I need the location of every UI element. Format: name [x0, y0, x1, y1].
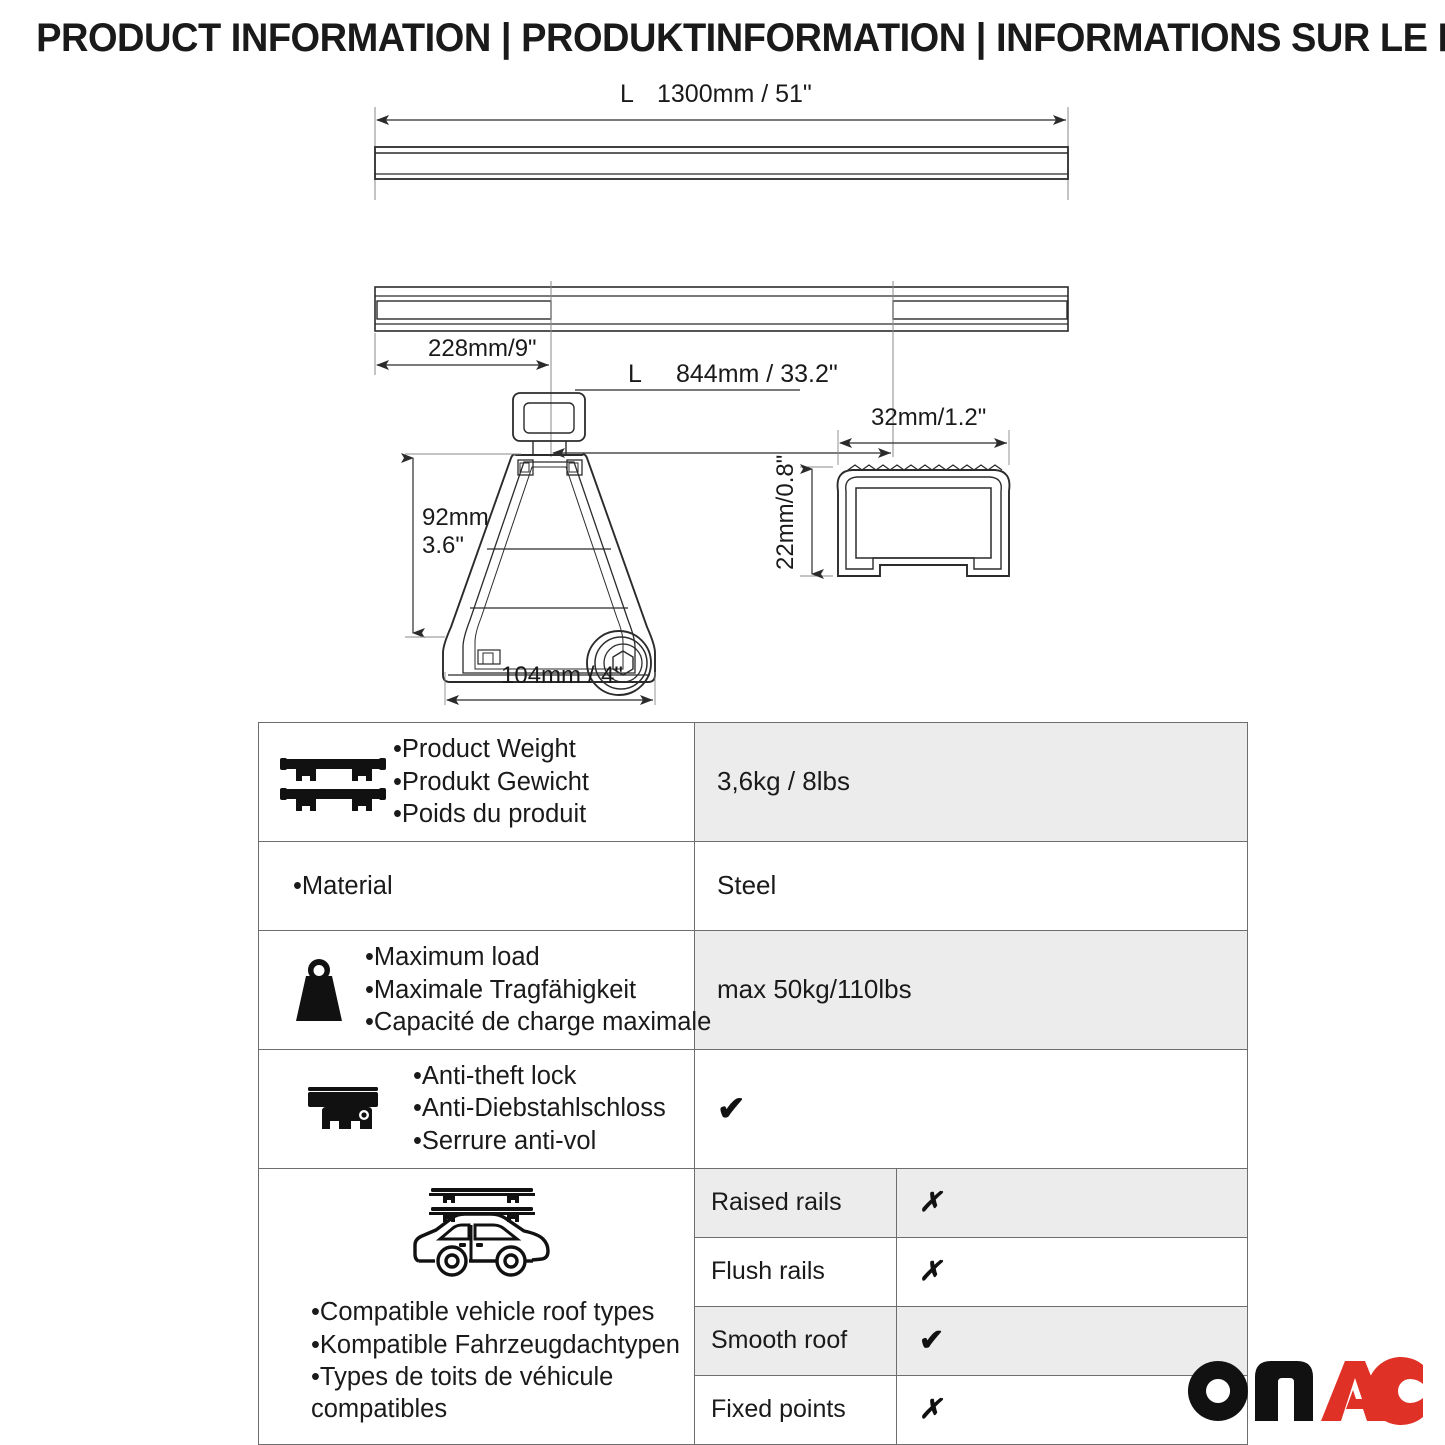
label-line-en: •Compatible vehicle roof types [311, 1296, 680, 1328]
row-label-text: •Compatible vehicle roof types •Kompatib… [273, 1296, 680, 1425]
page-title: PRODUCT INFORMATION | PRODUKTINFORMATION… [36, 16, 1409, 61]
spread-value: 844mm / 33.2" [676, 360, 838, 388]
bar-top-view [375, 107, 1068, 200]
label-line-de: •Maximale Tragfähigkeit [365, 974, 711, 1007]
table-row: •Compatible vehicle roof types •Kompatib… [259, 1168, 1248, 1444]
label-line-fr: •Capacité de charge maximale [365, 1006, 711, 1039]
foot-width-label: 104mm / 4" [501, 662, 623, 689]
table-row: •Anti-theft lock •Anti-Diebstahlschloss … [259, 1049, 1248, 1168]
row-value-weight: 3,6kg / 8lbs [695, 723, 1248, 842]
row-label-lock: •Anti-theft lock •Anti-Diebstahlschloss … [259, 1049, 695, 1168]
value-text: 3,6kg / 8lbs [695, 756, 1247, 807]
foot-offset-label: 228mm/9" [428, 335, 537, 362]
logo-letter-o [1188, 1361, 1248, 1421]
row-label-max-load: •Maximum load •Maximale Tragfähigkeit •C… [259, 930, 695, 1049]
bar-length-label: L [620, 80, 634, 108]
logo-letter-m [1255, 1361, 1313, 1421]
technical-drawing: L 1300mm / 51" 228mm/9" L 844mm / 33.2" … [0, 75, 1445, 705]
roof-type-name: Raised rails [695, 1169, 897, 1238]
row-label-material: •Material [259, 841, 695, 930]
label-line-en: •Maximum load [365, 941, 711, 974]
foot-front-view [443, 393, 655, 695]
roof-types-cell: Raised rails ✗ Flush rails ✗ [695, 1168, 1248, 1444]
roof-type-row: Raised rails ✗ [695, 1169, 1247, 1238]
lock-icon [273, 1085, 413, 1133]
roof-type-row: Smooth roof ✔ [695, 1306, 1247, 1375]
product-information-sheet: PRODUCT INFORMATION | PRODUKTINFORMATION… [0, 0, 1445, 1445]
roof-type-name: Fixed points [695, 1375, 897, 1444]
value-text: Steel [695, 860, 1247, 911]
bar-length-value: 1300mm / 51" [657, 80, 812, 108]
label-line-fr: •Serrure anti-vol [413, 1125, 690, 1158]
weight-icon [273, 955, 365, 1025]
label-line-de: •Kompatible Fahrzeugdachtypen [311, 1329, 680, 1361]
table-row: •Maximum load •Maximale Tragfähigkeit •C… [259, 930, 1248, 1049]
row-label-weight: •Product Weight •Produkt Gewicht •Poids … [259, 723, 695, 842]
profile-height-label: 22mm/0.8" [772, 455, 799, 570]
label-line-en: •Anti-theft lock [413, 1060, 690, 1093]
roof-type-mark-cell: ✗ [897, 1169, 1248, 1238]
row-label-roof-types: •Compatible vehicle roof types •Kompatib… [259, 1168, 695, 1444]
foot-height-mm: 92mm [422, 504, 489, 531]
row-label-text: •Anti-theft lock •Anti-Diebstahlschloss … [413, 1060, 690, 1158]
cross-mark: ✗ [897, 1252, 1247, 1291]
check-mark: ✔ [695, 1086, 1247, 1132]
label-line-de: •Anti-Diebstahlschloss [413, 1092, 690, 1125]
row-value-max-load: max 50kg/110lbs [695, 930, 1248, 1049]
profile-width-label: 32mm/1.2" [871, 404, 986, 431]
label-line-fr: •Types de toits de véhicule [311, 1361, 680, 1393]
row-label-text: •Material [293, 870, 690, 903]
label-line-fr-cont: compatibles [311, 1393, 680, 1425]
label-line-de: •Produkt Gewicht [393, 766, 690, 799]
table-row: •Material Steel [259, 841, 1248, 930]
value-text: max 50kg/110lbs [695, 964, 1247, 1015]
crossbars-icon [273, 751, 393, 813]
specification-table: •Product Weight •Produkt Gewicht •Poids … [258, 722, 1248, 1445]
row-label-text: •Maximum load •Maximale Tragfähigkeit •C… [365, 941, 711, 1039]
check-mark: ✔ [897, 1320, 1247, 1362]
cross-mark: ✗ [897, 1183, 1247, 1222]
foot-height-in: 3.6" [422, 532, 464, 559]
row-value-material: Steel [695, 841, 1248, 930]
table-row: •Product Weight •Produkt Gewicht •Poids … [259, 723, 1248, 842]
car-with-rack-icon [407, 1185, 557, 1286]
label-line-fr: •Poids du produit [393, 798, 690, 831]
roof-type-name: Smooth roof [695, 1306, 897, 1375]
profile-cross-section [838, 465, 1010, 576]
omac-logo [1185, 1357, 1425, 1425]
label-line-en: •Material [293, 870, 690, 903]
roof-type-name: Flush rails [695, 1237, 897, 1306]
roof-type-row: Flush rails ✗ [695, 1237, 1247, 1306]
roof-type-row: Fixed points ✗ [695, 1375, 1247, 1444]
row-label-text: •Product Weight •Produkt Gewicht •Poids … [393, 733, 690, 831]
spread-label: L [628, 360, 642, 388]
roof-types-table: Raised rails ✗ Flush rails ✗ [695, 1169, 1247, 1444]
roof-type-mark-cell: ✗ [897, 1237, 1248, 1306]
label-line-en: •Product Weight [393, 733, 690, 766]
row-value-lock: ✔ [695, 1049, 1248, 1168]
